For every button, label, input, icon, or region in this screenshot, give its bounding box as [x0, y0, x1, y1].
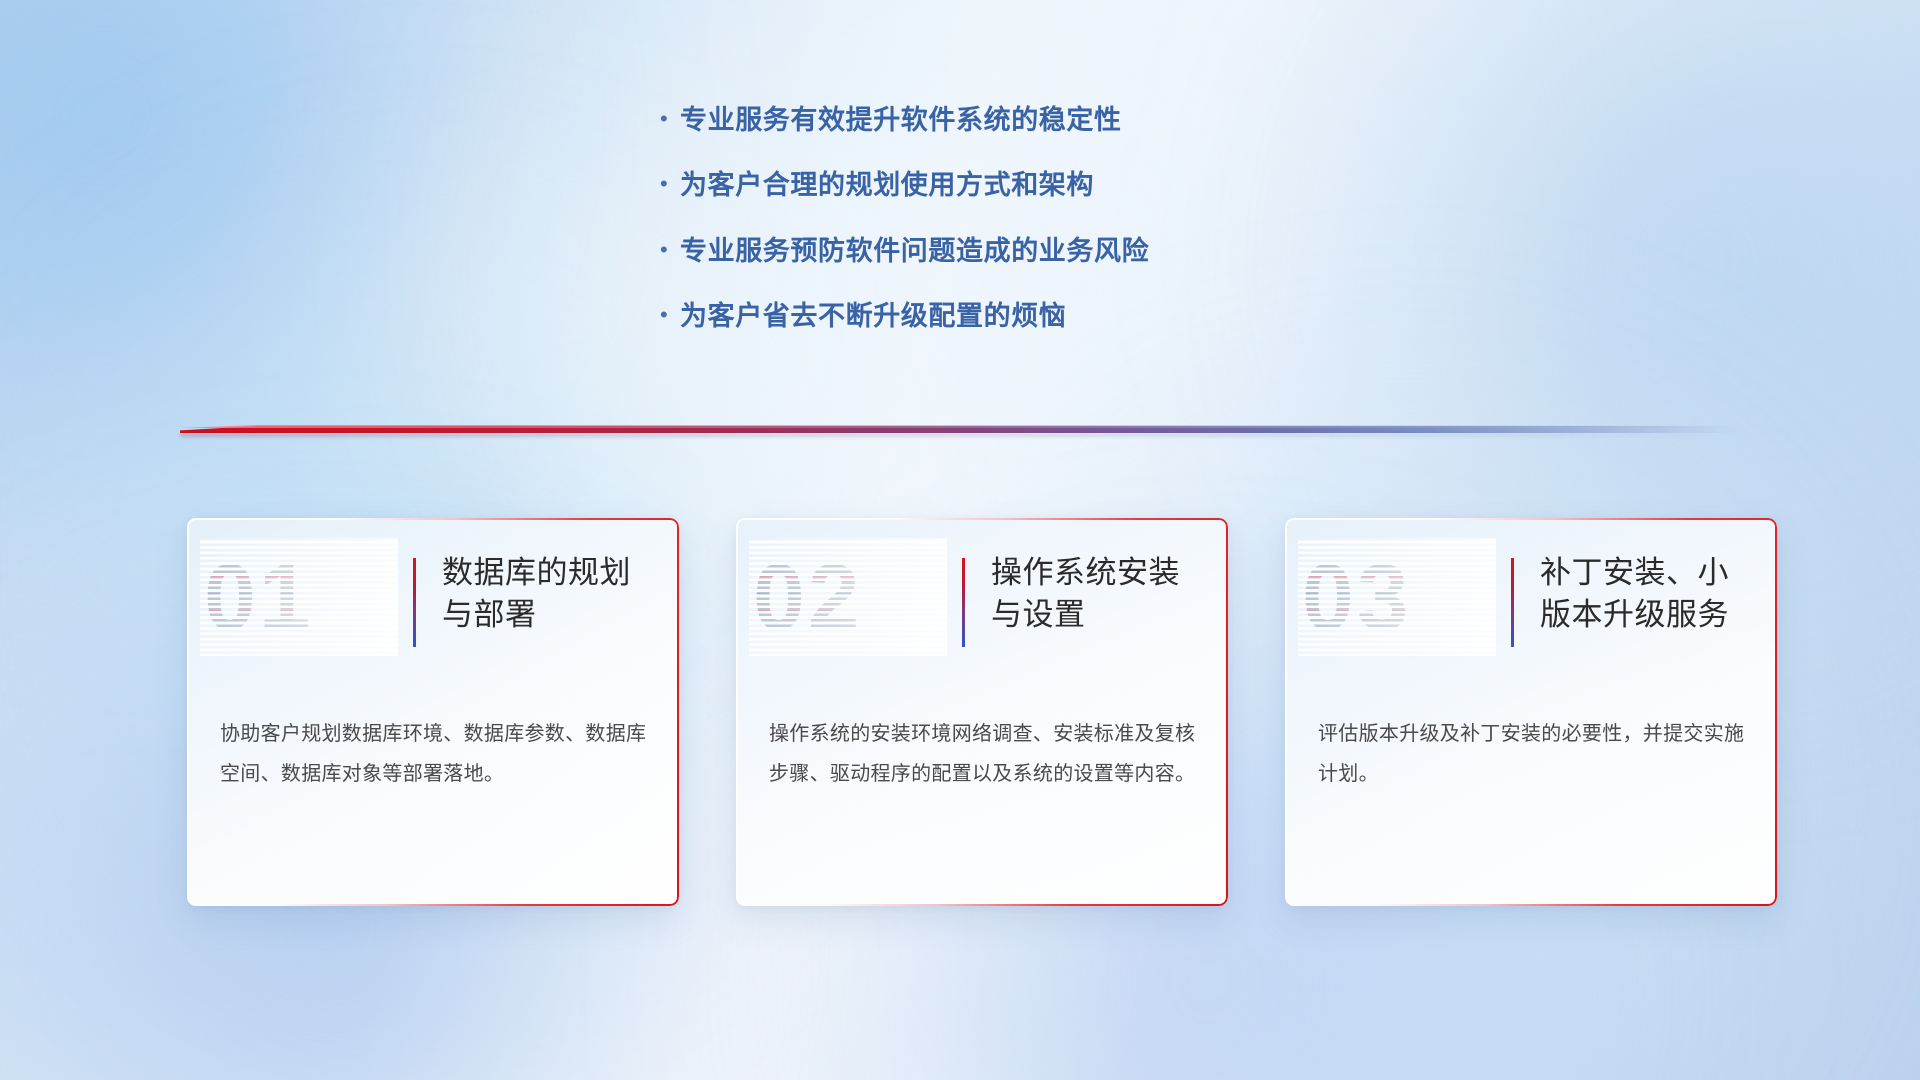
- card-number-fade: [200, 538, 398, 656]
- title-accent-bar: [1511, 558, 1514, 647]
- section-divider: [180, 418, 1740, 440]
- service-card-list: 01 01 数据库的规划与部署 协助客户规划数据库环境、数据库参数、数据库空间、…: [187, 518, 1777, 906]
- card-description: 操作系统的安装环境网络调查、安装标准及复核步骤、驱动程序的配置以及系统的设置等内…: [769, 714, 1200, 795]
- divider-shadow: [180, 433, 1740, 437]
- card-number-watermark: 03 03: [1302, 542, 1492, 652]
- card-title: 操作系统安装与设置: [991, 552, 1208, 636]
- card-title: 数据库的规划与部署: [442, 552, 659, 636]
- bullet-label: 为客户合理的规划使用方式和架构: [680, 169, 1094, 201]
- title-accent-bar: [413, 558, 416, 647]
- bullet-label: 为客户省去不断升级配置的烦恼: [680, 300, 1066, 332]
- card-number-watermark: 02 02: [753, 542, 943, 652]
- benefits-bullet-list: 专业服务有效提升软件系统的稳定性 为客户合理的规划使用方式和架构 专业服务预防软…: [660, 104, 1480, 366]
- list-item: 为客户合理的规划使用方式和架构: [660, 169, 1480, 201]
- list-item: 为客户省去不断升级配置的烦恼: [660, 300, 1480, 332]
- card-header: 补丁安装、小版本升级服务: [1511, 552, 1757, 647]
- bullet-dot-icon: [660, 173, 680, 195]
- list-item: 专业服务预防软件问题造成的业务风险: [660, 235, 1480, 267]
- bullet-dot-icon: [660, 239, 680, 261]
- card-header: 数据库的规划与部署: [413, 552, 659, 647]
- bullet-label: 专业服务预防软件问题造成的业务风险: [680, 235, 1149, 267]
- card-header: 操作系统安装与设置: [962, 552, 1208, 647]
- bullet-dot-icon: [660, 108, 680, 130]
- list-item: 专业服务有效提升软件系统的稳定性: [660, 104, 1480, 136]
- card-description: 评估版本升级及补丁安装的必要性，并提交实施计划。: [1318, 714, 1749, 795]
- card-number-watermark: 01 01: [204, 542, 394, 652]
- divider-highlight: [180, 425, 1740, 428]
- card-number-fade: [1298, 538, 1496, 656]
- bullet-label: 专业服务有效提升软件系统的稳定性: [680, 104, 1122, 136]
- title-accent-bar: [962, 558, 965, 647]
- service-card-02[interactable]: 02 02 操作系统安装与设置 操作系统的安装环境网络调查、安装标准及复核步骤、…: [736, 518, 1228, 906]
- card-description: 协助客户规划数据库环境、数据库参数、数据库空间、数据库对象等部署落地。: [220, 714, 651, 795]
- card-title: 补丁安装、小版本升级服务: [1540, 552, 1757, 636]
- bullet-dot-icon: [660, 304, 680, 326]
- service-card-03[interactable]: 03 03 补丁安装、小版本升级服务 评估版本升级及补丁安装的必要性，并提交实施…: [1285, 518, 1777, 906]
- service-card-01[interactable]: 01 01 数据库的规划与部署 协助客户规划数据库环境、数据库参数、数据库空间、…: [187, 518, 679, 906]
- card-number-fade: [749, 538, 947, 656]
